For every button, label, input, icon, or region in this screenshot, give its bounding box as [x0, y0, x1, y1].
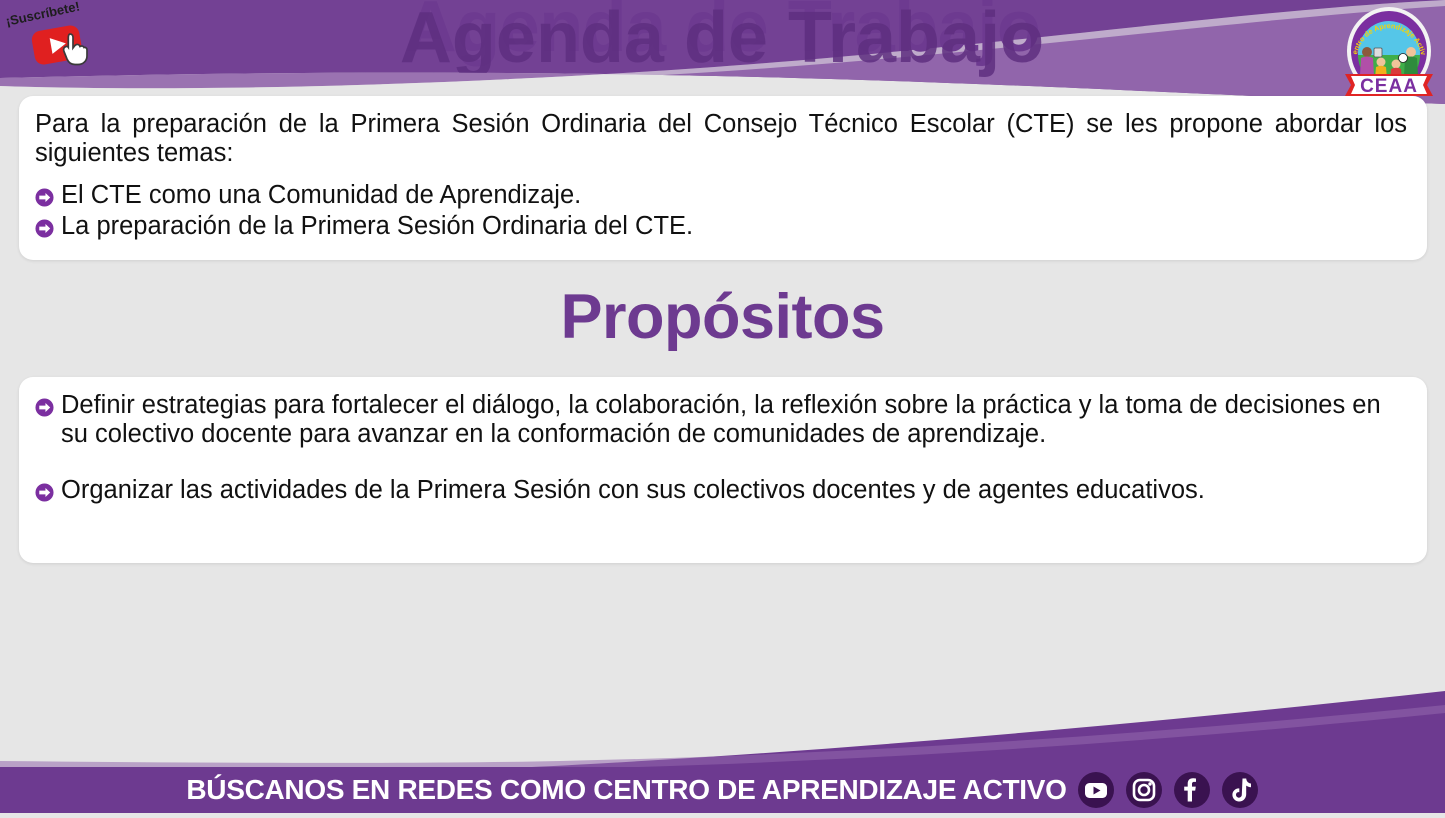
arrow-bullet-icon [35, 188, 54, 207]
agenda-bullet-list: El CTE como una Comunidad de Aprendizaje… [35, 181, 1409, 240]
ceaa-logo: Centro de Aprendizaje Activo CEAA [1339, 6, 1439, 101]
footer-bar: BÚSCANOS EN REDES COMO CENTRO DE APRENDI… [0, 767, 1445, 813]
list-item: Organizar las actividades de la Primera … [35, 476, 1409, 505]
agenda-card: Para la preparación de la Primera Sesión… [19, 96, 1427, 260]
arrow-bullet-icon [35, 398, 54, 417]
youtube-icon[interactable] [1077, 771, 1115, 809]
instagram-icon[interactable] [1125, 771, 1163, 809]
list-item-label: El CTE como una Comunidad de Aprendizaje… [61, 181, 1409, 210]
footer-text: BÚSCANOS EN REDES COMO CENTRO DE APRENDI… [186, 774, 1066, 806]
list-item: El CTE como una Comunidad de Aprendizaje… [35, 181, 1409, 210]
arrow-bullet-icon [35, 483, 54, 502]
list-item: La preparación de la Primera Sesión Ordi… [35, 212, 1409, 241]
list-item-label: La preparación de la Primera Sesión Ordi… [61, 212, 1409, 241]
arrow-bullet-icon [35, 219, 54, 238]
facebook-icon[interactable] [1173, 771, 1211, 809]
propositos-heading: Propósitos [0, 281, 1445, 353]
list-item-label: Definir estrategias para fortalecer el d… [61, 391, 1409, 448]
hand-cursor-icon [61, 32, 91, 66]
tiktok-icon[interactable] [1221, 771, 1259, 809]
propositos-card: Definir estrategias para fortalecer el d… [19, 377, 1427, 563]
svg-text:CEAA: CEAA [1360, 76, 1418, 97]
subscribe-badge[interactable]: ¡Suscríbete! [4, 4, 114, 70]
agenda-intro-text: Para la preparación de la Primera Sesión… [35, 110, 1409, 167]
page-title: Agenda de Trabajo [0, 0, 1445, 68]
list-item: Definir estrategias para fortalecer el d… [35, 391, 1409, 448]
list-item-label: Organizar las actividades de la Primera … [61, 476, 1409, 505]
